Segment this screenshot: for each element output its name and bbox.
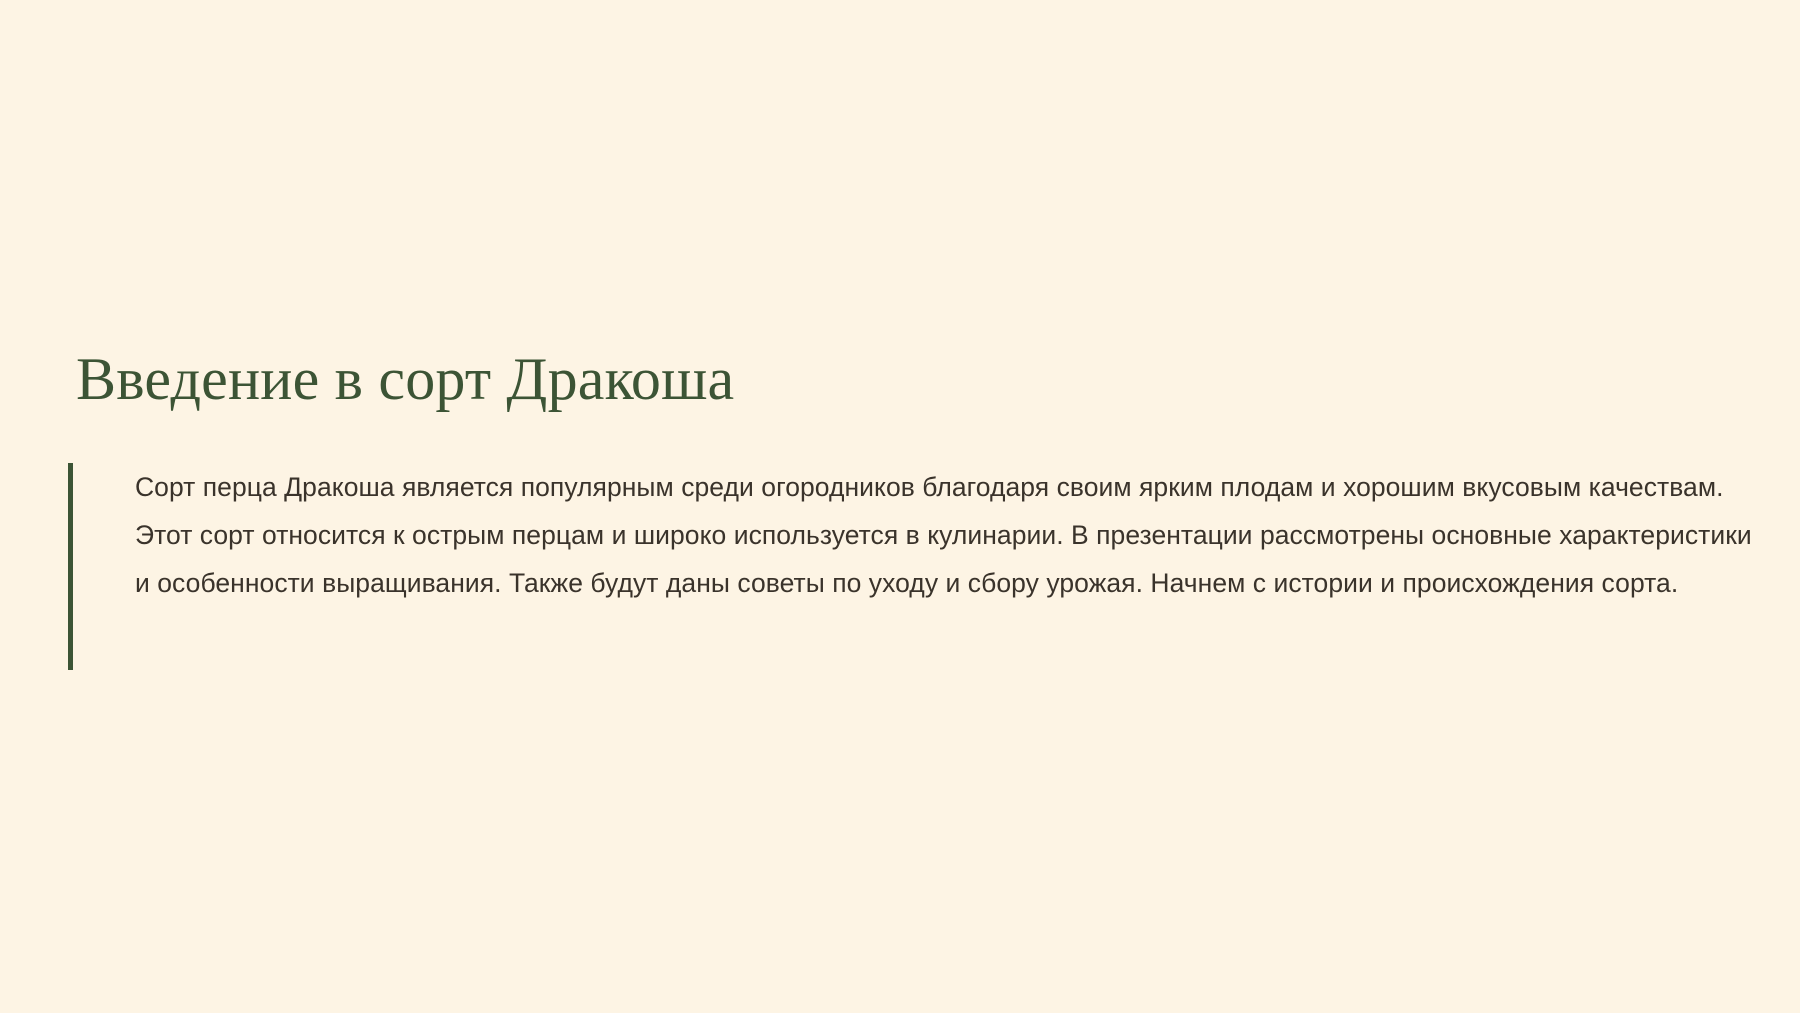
page-title: Введение в сорт Дракоша — [76, 346, 734, 413]
presentation-slide: Введение в сорт Дракоша Сорт перца Драко… — [0, 0, 1800, 1013]
body-quote-block: Сорт перца Дракоша является популярным с… — [68, 463, 1758, 670]
body-paragraph: Сорт перца Дракоша является популярным с… — [73, 463, 1758, 670]
